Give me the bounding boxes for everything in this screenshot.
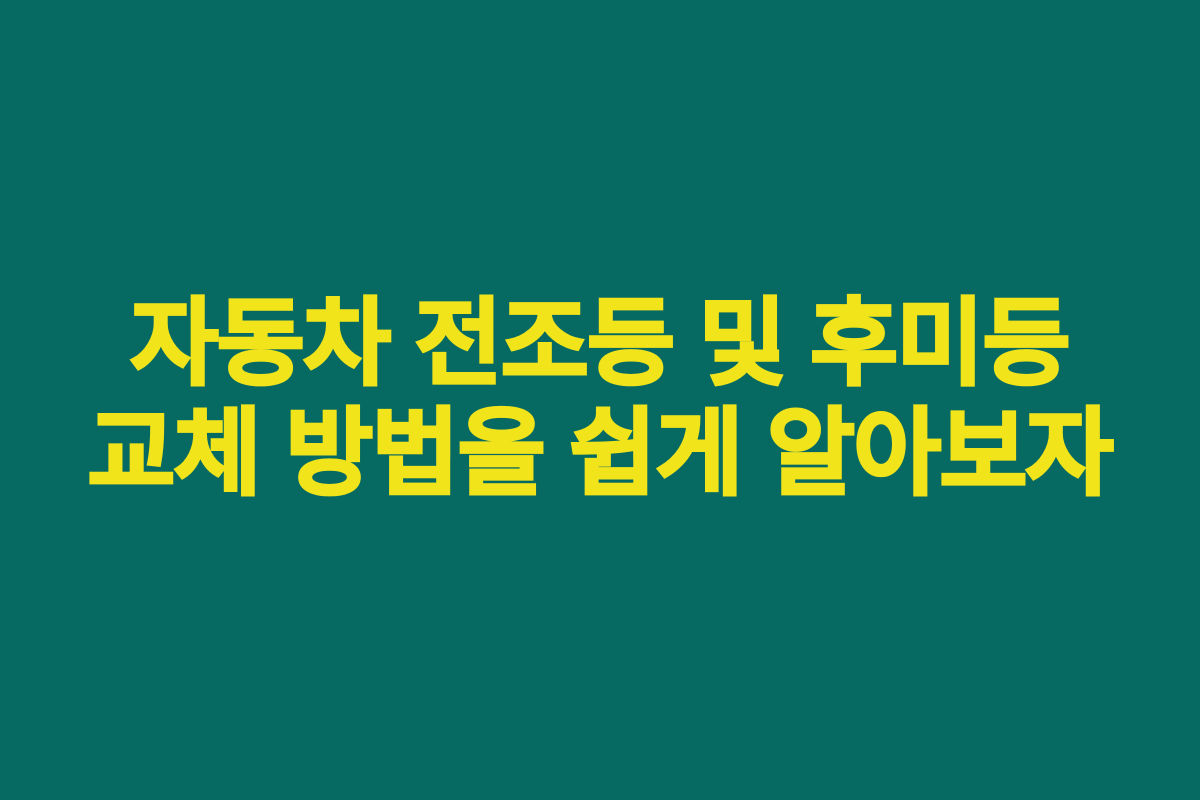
banner-title-line-1: 자동차 전조등 및 후미등 (0, 289, 1200, 399)
title-banner: 자동차 전조등 및 후미등 교체 방법을 쉽게 알아보자 (0, 0, 1200, 800)
banner-title-block: 자동차 전조등 및 후미등 교체 방법을 쉽게 알아보자 (0, 289, 1200, 509)
banner-title-line-2: 교체 방법을 쉽게 알아보자 (0, 399, 1200, 509)
